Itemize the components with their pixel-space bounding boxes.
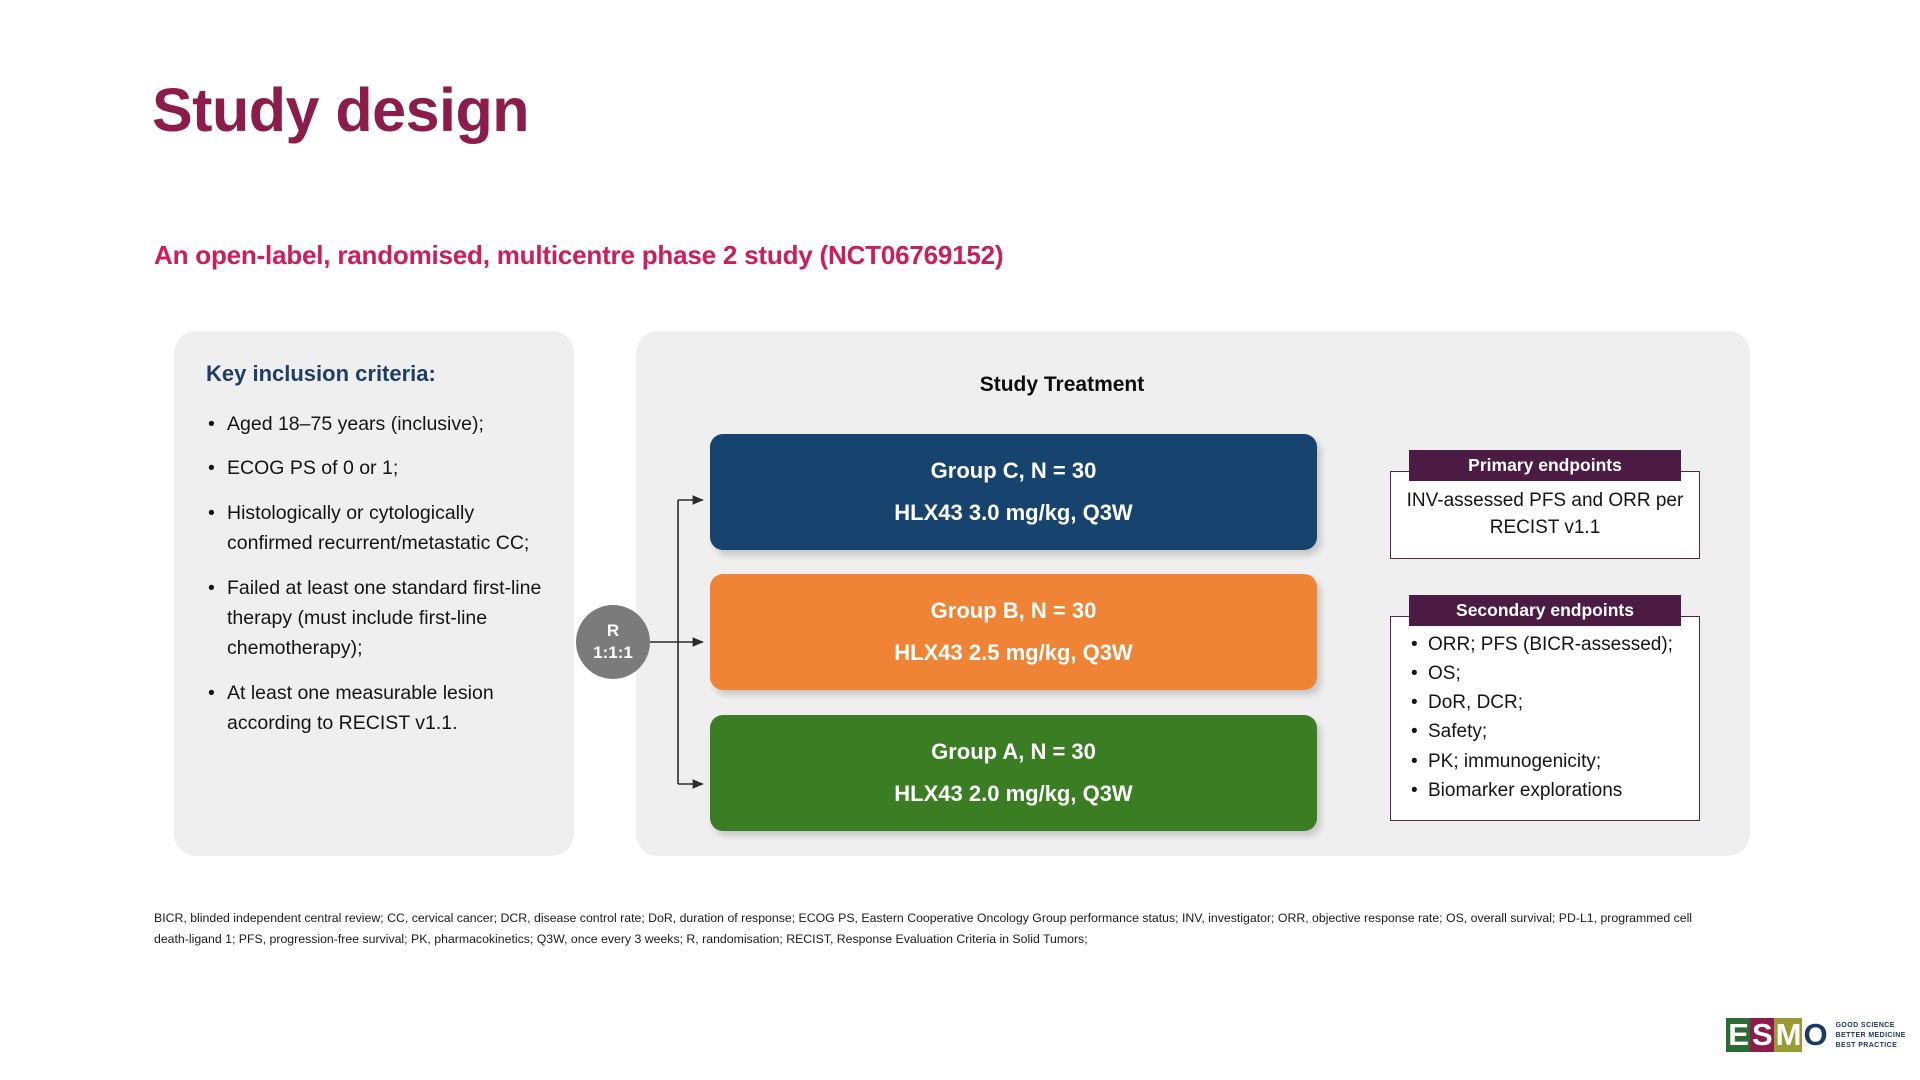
randomisation-label: R (607, 620, 619, 642)
primary-endpoints-body: INV-assessed PFS and ORR per RECIST v1.1 (1390, 471, 1700, 559)
list-item: PK; immunogenicity; (1409, 748, 1689, 775)
treatment-group-c-box[interactable]: Group C, N = 30 HLX43 3.0 mg/kg, Q3W (710, 434, 1317, 550)
abbreviations-footnote: BICR, blinded independent central review… (154, 908, 1724, 950)
study-treatment-heading: Study Treatment (636, 373, 1488, 397)
treatment-group-a-box[interactable]: Group A, N = 30 HLX43 2.0 mg/kg, Q3W (710, 715, 1317, 831)
group-c-title: Group C, N = 30 (931, 458, 1097, 484)
group-c-dose: HLX43 3.0 mg/kg, Q3W (894, 500, 1132, 526)
group-a-title: Group A, N = 30 (931, 739, 1096, 765)
randomisation-node: R 1:1:1 (576, 605, 650, 679)
criteria-list: Aged 18–75 years (inclusive); ECOG PS of… (206, 409, 548, 739)
secondary-endpoints-block: Secondary endpoints ORR; PFS (BICR-asses… (1390, 595, 1700, 821)
page-subtitle: An open-label, randomised, multicentre p… (154, 240, 1003, 271)
key-inclusion-criteria-panel: Key inclusion criteria: Aged 18–75 years… (174, 331, 574, 856)
esmo-letter-o: O (1802, 1018, 1827, 1052)
esmo-wordmark: E S M O (1726, 1018, 1827, 1052)
esmo-letter-m: M (1774, 1018, 1803, 1052)
tagline-line-2: BETTER MEDICINE (1836, 1032, 1906, 1039)
secondary-endpoints-body: ORR; PFS (BICR-assessed); OS; DoR, DCR; … (1390, 616, 1700, 821)
randomisation-ratio: 1:1:1 (593, 642, 633, 664)
list-item: Failed at least one standard first-line … (206, 573, 548, 664)
criteria-heading: Key inclusion criteria: (206, 361, 548, 387)
list-item: Aged 18–75 years (inclusive); (206, 409, 548, 439)
page-title: Study design (152, 78, 529, 142)
list-item: ECOG PS of 0 or 1; (206, 453, 548, 483)
esmo-letter-e: E (1726, 1018, 1750, 1052)
treatment-group-b-box[interactable]: Group B, N = 30 HLX43 2.5 mg/kg, Q3W (710, 574, 1317, 690)
list-item: OS; (1409, 660, 1689, 687)
group-a-dose: HLX43 2.0 mg/kg, Q3W (894, 781, 1132, 807)
list-item: Safety; (1409, 718, 1689, 745)
esmo-logo: E S M O GOOD SCIENCE BETTER MEDICINE BES… (1712, 990, 1920, 1080)
tagline-line-1: GOOD SCIENCE (1836, 1022, 1906, 1029)
list-item: At least one measurable lesion according… (206, 678, 548, 739)
list-item: ORR; PFS (BICR-assessed); (1409, 631, 1689, 658)
group-b-title: Group B, N = 30 (931, 598, 1097, 624)
primary-endpoints-block: Primary endpoints INV-assessed PFS and O… (1390, 450, 1700, 559)
primary-endpoints-banner: Primary endpoints (1409, 450, 1681, 481)
group-b-dose: HLX43 2.5 mg/kg, Q3W (894, 640, 1132, 666)
secondary-endpoints-list: ORR; PFS (BICR-assessed); OS; DoR, DCR; … (1401, 631, 1689, 804)
esmo-tagline: GOOD SCIENCE BETTER MEDICINE BEST PRACTI… (1836, 1022, 1906, 1049)
secondary-endpoints-banner: Secondary endpoints (1409, 595, 1681, 626)
esmo-letter-s: S (1750, 1018, 1774, 1052)
list-item: DoR, DCR; (1409, 689, 1689, 716)
list-item: Histologically or cytologically confirme… (206, 498, 548, 559)
tagline-line-3: BEST PRACTICE (1836, 1042, 1906, 1049)
list-item: Biomarker explorations (1409, 777, 1689, 804)
